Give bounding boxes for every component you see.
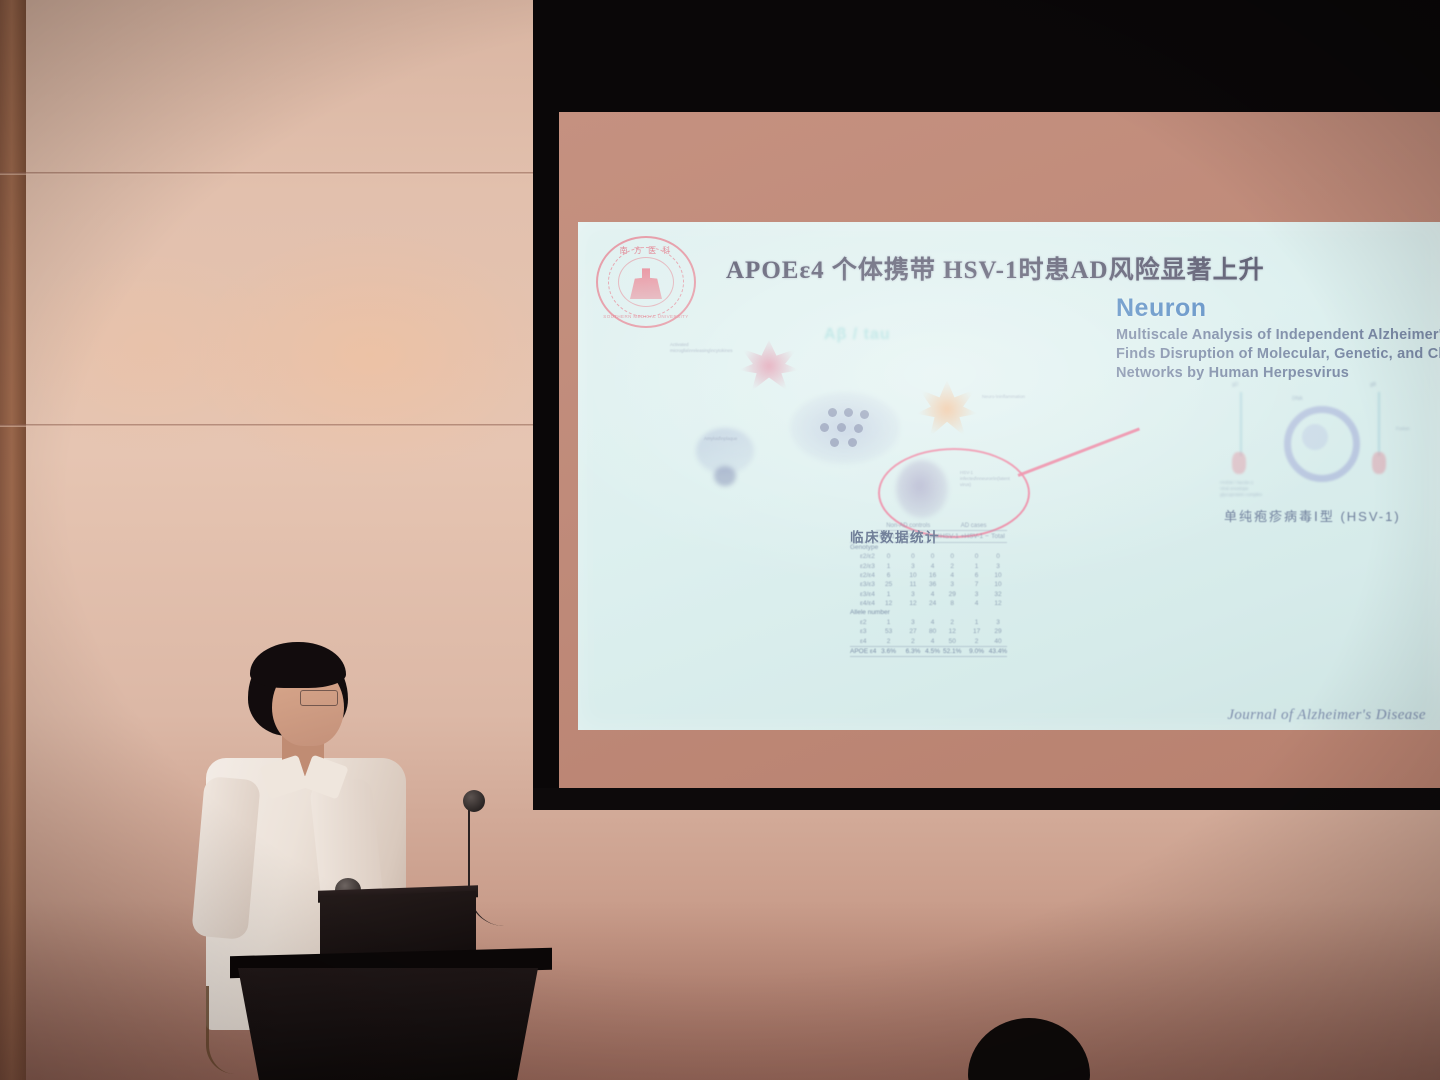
section-label: Allele number bbox=[850, 608, 1007, 617]
cell: 6.3% bbox=[901, 646, 925, 656]
cell: 16 bbox=[925, 571, 940, 580]
cell: 4 bbox=[940, 571, 964, 580]
cell: 3 bbox=[964, 589, 988, 598]
column-header: HSV-1 + bbox=[940, 531, 964, 542]
seal-emblem bbox=[626, 265, 666, 299]
cell: 43.4% bbox=[989, 646, 1007, 656]
row-label: ε2 bbox=[850, 618, 876, 627]
cell: 0 bbox=[925, 552, 940, 561]
cell: 9.0% bbox=[964, 646, 988, 656]
table-row: ε3532780121729 bbox=[850, 627, 1007, 636]
cell: 1 bbox=[876, 561, 900, 570]
table-row: ε3/ε413429332 bbox=[850, 589, 1007, 598]
cell: 12 bbox=[876, 599, 900, 608]
diagram-teal-label: Aβ / tau bbox=[824, 326, 891, 344]
table-row: ε2134213 bbox=[850, 618, 1007, 627]
row-label: ε2/ε3 bbox=[850, 561, 876, 570]
table-footer-row: APOE ε43.6%6.3%4.5%52.1%9.0%43.4% bbox=[850, 646, 1007, 656]
cell: 12 bbox=[940, 627, 964, 636]
podium-cable bbox=[206, 986, 235, 1074]
cell: 25 bbox=[876, 580, 900, 589]
table-row: ε4/ε41212248412 bbox=[850, 599, 1007, 608]
cell: 12 bbox=[901, 599, 925, 608]
cell: 3 bbox=[901, 618, 925, 627]
table-row: ε3/ε32511363710 bbox=[850, 580, 1007, 589]
column-header: HSV-1 + bbox=[876, 531, 900, 542]
statistics-table: Non-AD controlsAD casesHSV-1 +HSV-1 −Tot… bbox=[850, 522, 1007, 657]
section-label: Genotype bbox=[850, 542, 1007, 552]
cell: 3 bbox=[989, 561, 1007, 570]
cell: 0 bbox=[901, 552, 925, 561]
row-label: ε4/ε4 bbox=[850, 599, 876, 608]
cell: 2 bbox=[940, 618, 964, 627]
row-label: ε4 bbox=[850, 636, 876, 646]
cell: 10 bbox=[989, 571, 1007, 580]
cell: 2 bbox=[901, 636, 925, 646]
neuron-nucleus-icon bbox=[714, 466, 736, 486]
cell: 4 bbox=[964, 599, 988, 608]
cell: 1 bbox=[964, 561, 988, 570]
row-label: ε3 bbox=[850, 627, 876, 636]
cell: 8 bbox=[940, 599, 964, 608]
row-label: ε3/ε4 bbox=[850, 589, 876, 598]
table-row: ε422450240 bbox=[850, 636, 1007, 646]
cell: 3 bbox=[940, 580, 964, 589]
cell: 2 bbox=[964, 636, 988, 646]
cell: 29 bbox=[989, 627, 1007, 636]
cell: 0 bbox=[876, 552, 900, 561]
projector-screen-bottom-bar bbox=[533, 788, 1440, 810]
cell: 17 bbox=[964, 627, 988, 636]
cell: 0 bbox=[989, 552, 1007, 561]
cell: 11 bbox=[901, 580, 925, 589]
presentation-slide: 南 方 医 科 SOUTHERN MEDICAL UNIVERSITY APOE… bbox=[578, 222, 1440, 730]
cell: 4 bbox=[925, 589, 940, 598]
table-row: ε2/ε3134213 bbox=[850, 561, 1007, 570]
cell: 1 bbox=[876, 618, 900, 627]
seal-bottom-text: SOUTHERN MEDICAL UNIVERSITY bbox=[598, 314, 694, 319]
slide-credit: Journal of Alzheimer's Disease bbox=[1227, 707, 1426, 724]
cell: 3 bbox=[901, 589, 925, 598]
cell: 7 bbox=[964, 580, 988, 589]
column-header bbox=[850, 531, 876, 542]
column-header: Total bbox=[989, 531, 1007, 542]
row-label: ε2/ε4 bbox=[850, 571, 876, 580]
group-header: Non-AD controls bbox=[876, 522, 940, 531]
table-section-row: Allele number bbox=[850, 608, 1007, 617]
cell: 3 bbox=[901, 561, 925, 570]
annotation-pointer-line bbox=[1018, 427, 1140, 476]
university-seal-icon: 南 方 医 科 SOUTHERN MEDICAL UNIVERSITY bbox=[596, 236, 696, 328]
column-header: Total bbox=[925, 531, 940, 542]
slide-title: APOEε4 个体携带 HSV-1时患AD风险显著上升 bbox=[726, 250, 1422, 286]
journal-name: Neuron bbox=[1116, 294, 1207, 323]
group-header: AD cases bbox=[940, 522, 1007, 531]
cell: 6 bbox=[876, 571, 900, 580]
cell: 36 bbox=[925, 580, 940, 589]
row-label: ε2/ε2 bbox=[850, 552, 876, 561]
cell: 4 bbox=[925, 561, 940, 570]
podium-reading-panel bbox=[320, 891, 476, 960]
cell: 6 bbox=[964, 571, 988, 580]
cell: 4 bbox=[925, 618, 940, 627]
cell: 0 bbox=[940, 552, 964, 561]
cell: 10 bbox=[989, 580, 1007, 589]
podium-body bbox=[238, 968, 538, 1080]
column-header: HSV-1 − bbox=[901, 531, 925, 542]
plaque-fibril-dots bbox=[820, 408, 876, 450]
journal-article-title: Multiscale Analysis of Independent Alzhe… bbox=[1116, 326, 1440, 383]
cell: 3.6% bbox=[876, 646, 900, 656]
table-group-header-row: Non-AD controlsAD cases bbox=[850, 522, 1007, 531]
neuroinflammation-icon bbox=[916, 380, 978, 438]
cell: 24 bbox=[925, 599, 940, 608]
seal-top-text: 南 方 医 科 bbox=[598, 245, 694, 256]
cell: 1 bbox=[964, 618, 988, 627]
table-column-header-row: HSV-1 +HSV-1 −TotalHSV-1 +HSV-1 −Total bbox=[850, 531, 1007, 542]
column-header: HSV-1 − bbox=[964, 531, 988, 542]
cell: 53 bbox=[876, 627, 900, 636]
virus-diagram: gD gB DNA HVEM / Nectin-1Viral envelopeg… bbox=[1218, 382, 1408, 502]
cell: 52.1% bbox=[940, 646, 964, 656]
cell: 27 bbox=[901, 627, 925, 636]
cell: 10 bbox=[901, 571, 925, 580]
cell: 1 bbox=[876, 589, 900, 598]
cell: 12 bbox=[989, 599, 1007, 608]
cell: 0 bbox=[964, 552, 988, 561]
cell: 3 bbox=[989, 618, 1007, 627]
table-section-row: Genotype bbox=[850, 542, 1007, 552]
row-label: ε3/ε3 bbox=[850, 580, 876, 589]
diagram-label-inflammation: Neuro-\ninflammation bbox=[982, 394, 1034, 400]
lecture-photo: 南 方 医 科 SOUTHERN MEDICAL UNIVERSITY APOE… bbox=[0, 0, 1440, 1080]
row-label: APOE ε4 bbox=[850, 646, 876, 656]
cell: 2 bbox=[876, 636, 900, 646]
diagram-label-plaque: Amyloid\nplaque bbox=[704, 436, 748, 442]
podium-microphone-head-icon bbox=[463, 790, 485, 812]
cell: 80 bbox=[925, 627, 940, 636]
clinical-data-table: Non-AD controlsAD casesHSV-1 +HSV-1 −Tot… bbox=[850, 522, 1412, 657]
cell: 4 bbox=[925, 636, 940, 646]
activated-microglia-icon bbox=[738, 340, 800, 392]
presenter-glasses bbox=[300, 690, 338, 706]
table-row: ε2/ε2000000 bbox=[850, 552, 1007, 561]
diagram-label-microglia: Activated microglia\nreleasing\ncytokine… bbox=[670, 342, 736, 354]
cell: 29 bbox=[940, 589, 964, 598]
cell: 32 bbox=[989, 589, 1007, 598]
presenter-fringe bbox=[250, 642, 346, 688]
cell: 2 bbox=[940, 561, 964, 570]
cell: 4.5% bbox=[925, 646, 940, 656]
cell: 40 bbox=[989, 636, 1007, 646]
cell: 50 bbox=[940, 636, 964, 646]
table-row: ε2/ε4610164610 bbox=[850, 571, 1007, 580]
